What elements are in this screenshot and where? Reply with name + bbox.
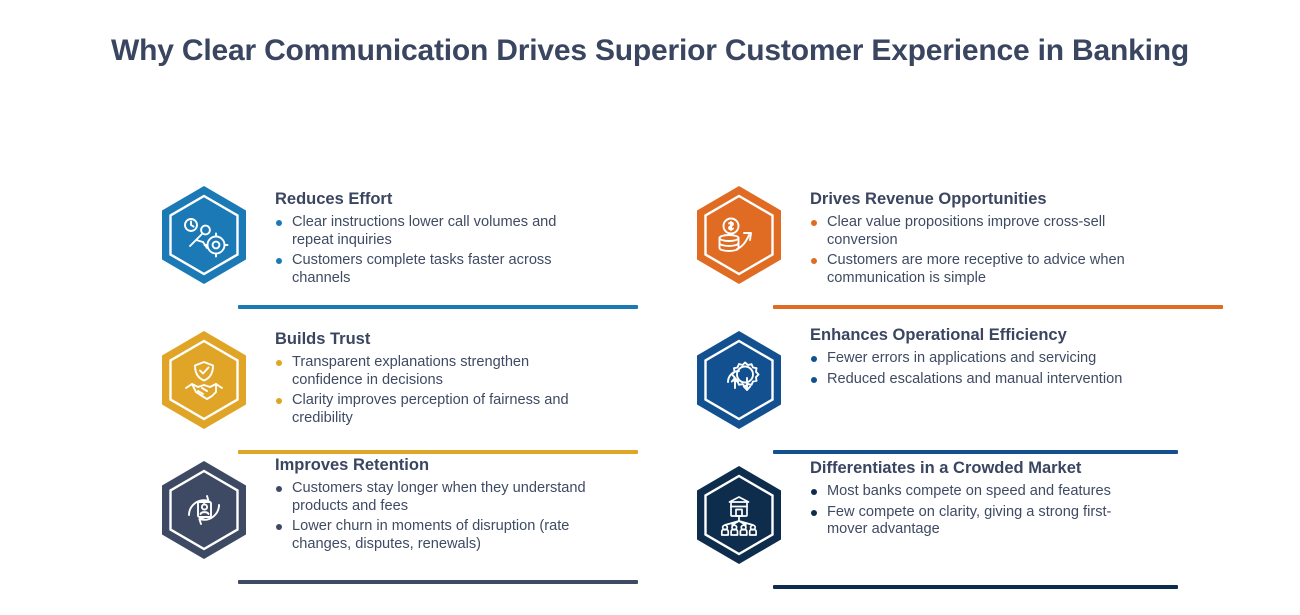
list-item-text: Clear value propositions improve cross-s… <box>827 214 1105 248</box>
list-item-text: Few compete on clarity, giving a strong … <box>827 504 1111 538</box>
list-item: Clarity improves perception of fairness … <box>275 392 595 427</box>
hexagon-badge-operational-efficiency <box>695 330 783 430</box>
card-drives-revenue-opportunities: Drives Revenue Opportunities Clear value… <box>695 185 1155 335</box>
page-title: Why Clear Communication Drives Superior … <box>0 34 1300 68</box>
card-heading: Enhances Operational Efficiency <box>810 326 1150 345</box>
list-item: Clear value propositions improve cross-s… <box>810 214 1150 249</box>
list-item-text: Clarity improves perception of fairness … <box>292 392 569 426</box>
card-body-improves-retention: Improves Retention Customers stay longer… <box>275 456 605 556</box>
list-item-text: Customers stay longer when they understa… <box>292 480 586 514</box>
card-body-drives-revenue: Drives Revenue Opportunities Clear value… <box>810 190 1150 290</box>
list-item: Few compete on clarity, giving a strong … <box>810 504 1150 539</box>
bullet-dot-icon <box>811 356 817 362</box>
bullet-list: Clear instructions lower call volumes an… <box>275 214 595 287</box>
list-item-text: Fewer errors in applications and servici… <box>827 350 1096 366</box>
bullet-list: Transparent explanations strengthen conf… <box>275 354 595 427</box>
list-item-text: Customers complete tasks faster across c… <box>292 252 552 286</box>
bullet-dot-icon <box>276 486 282 492</box>
card-heading: Drives Revenue Opportunities <box>810 190 1150 209</box>
card-body-differentiates: Differentiates in a Crowded Market Most … <box>810 459 1150 542</box>
list-item: Fewer errors in applications and servici… <box>810 350 1150 368</box>
hexagon-badge-builds-trust <box>160 330 248 430</box>
hexagon-badge-differentiates <box>695 465 783 565</box>
bullet-dot-icon <box>276 360 282 366</box>
card-body-operational-efficiency: Enhances Operational Efficiency Fewer er… <box>810 326 1150 391</box>
bullet-dot-icon <box>811 510 817 516</box>
bullet-list: Clear value propositions improve cross-s… <box>810 214 1150 287</box>
list-item: Customers stay longer when they understa… <box>275 480 605 515</box>
card-heading: Builds Trust <box>275 330 595 349</box>
bullet-dot-icon <box>276 398 282 404</box>
card-body-reduces-effort: Reduces Effort Clear instructions lower … <box>275 190 595 290</box>
bullet-list: Customers stay longer when they understa… <box>275 480 605 553</box>
accent-rule-reduces-effort <box>238 305 638 309</box>
hexagon-badge-drives-revenue <box>695 185 783 285</box>
list-item-text: Most banks compete on speed and features <box>827 483 1111 499</box>
bullet-list: Fewer errors in applications and servici… <box>810 350 1150 388</box>
list-item-text: Clear instructions lower call volumes an… <box>292 214 556 248</box>
bullet-dot-icon <box>276 220 282 226</box>
list-item: Most banks compete on speed and features <box>810 483 1150 501</box>
bullet-dot-icon <box>811 377 817 383</box>
card-heading: Reduces Effort <box>275 190 595 209</box>
accent-rule-operational-efficiency <box>773 450 1178 454</box>
card-differentiates-crowded-market: Differentiates in a Crowded Market Most … <box>695 465 1155 615</box>
card-body-builds-trust: Builds Trust Transparent explanations st… <box>275 330 595 430</box>
card-improves-retention: Improves Retention Customers stay longer… <box>160 460 580 610</box>
list-item-text: Customers are more receptive to advice w… <box>827 252 1125 286</box>
list-item: Reduced escalations and manual intervent… <box>810 371 1150 389</box>
card-enhances-operational-efficiency: Enhances Operational Efficiency Fewer er… <box>695 330 1155 480</box>
bullet-dot-icon <box>811 220 817 226</box>
hexagon-badge-reduces-effort <box>160 185 248 285</box>
hexagon-badge-improves-retention <box>160 460 248 560</box>
card-heading: Differentiates in a Crowded Market <box>810 459 1150 478</box>
accent-rule-differentiates <box>773 585 1178 589</box>
bullet-dot-icon <box>276 258 282 264</box>
bullet-dot-icon <box>811 489 817 495</box>
list-item-text: Reduced escalations and manual intervent… <box>827 371 1122 387</box>
card-reduces-effort: Reduces Effort Clear instructions lower … <box>160 185 580 335</box>
bullet-dot-icon <box>276 524 282 530</box>
list-item: Customers complete tasks faster across c… <box>275 252 595 287</box>
accent-rule-improves-retention <box>238 580 638 584</box>
accent-rule-drives-revenue <box>773 305 1223 309</box>
list-item-text: Lower churn in moments of disruption (ra… <box>292 518 569 552</box>
list-item: Customers are more receptive to advice w… <box>810 252 1150 287</box>
list-item: Clear instructions lower call volumes an… <box>275 214 595 249</box>
list-item: Lower churn in moments of disruption (ra… <box>275 518 605 553</box>
bullet-list: Most banks compete on speed and features… <box>810 483 1150 539</box>
bullet-dot-icon <box>811 258 817 264</box>
accent-rule-builds-trust <box>238 450 638 454</box>
list-item: Transparent explanations strengthen conf… <box>275 354 595 389</box>
list-item-text: Transparent explanations strengthen conf… <box>292 354 529 388</box>
card-heading: Improves Retention <box>275 456 605 475</box>
